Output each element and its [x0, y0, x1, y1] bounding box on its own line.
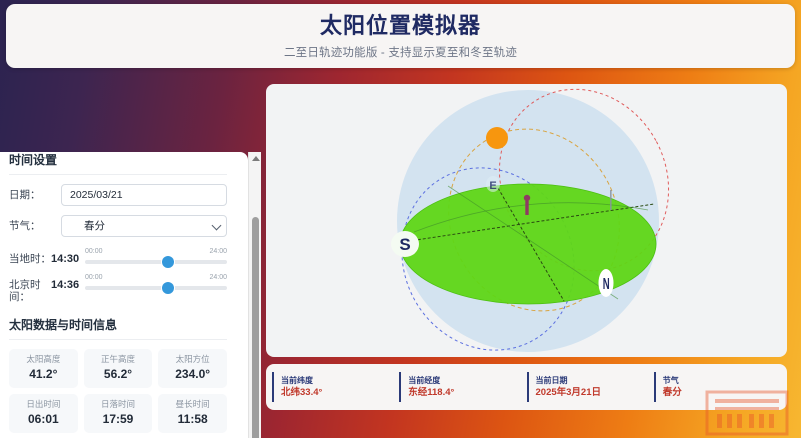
date-row: 日期： 2025/03/21: [9, 184, 227, 206]
data-cell-value: 06:01: [11, 411, 76, 427]
info-card-label: 当前纬度: [281, 375, 399, 386]
time-settings-heading: 时间设置: [9, 152, 227, 175]
control-sidebar: 时间设置 日期： 2025/03/21 节气： 春分 当地时： 14:30 00…: [0, 76, 261, 438]
sun-data-heading: 太阳数据与时间信息: [9, 311, 227, 340]
data-cell-label: 太阳高度: [11, 354, 76, 365]
data-cell-value: 17:59: [86, 411, 151, 427]
compass-south-label: S: [399, 235, 410, 254]
local-time-label: 当地时：: [9, 246, 51, 265]
data-cell-label: 日出时间: [11, 399, 76, 410]
info-card-label: 当前经度: [408, 375, 526, 386]
compass-marker-east: E: [486, 176, 500, 192]
data-cell: 昼长时间 11:58: [158, 394, 227, 433]
data-cell: 日落时间 17:59: [84, 394, 153, 433]
info-card-date: 当前日期 2025年3月21日: [527, 372, 654, 402]
data-cell-label: 太阳方位: [160, 354, 225, 365]
date-input[interactable]: 2025/03/21: [61, 184, 227, 206]
solar-term-row: 节气： 春分: [9, 215, 227, 237]
celestial-sphere-scene[interactable]: S E N: [266, 84, 787, 357]
solar-term-select[interactable]: 春分: [61, 215, 227, 237]
data-cell: 太阳方位 234.0°: [158, 349, 227, 388]
local-time-row: 当地时： 14:30 00:00 24:00: [9, 246, 227, 265]
data-cell-label: 昼长时间: [160, 399, 225, 410]
compass-east-label: E: [489, 180, 496, 192]
data-cell-label: 日落时间: [86, 399, 151, 410]
sun-marker: [486, 127, 508, 149]
info-card-latitude: 当前纬度 北纬33.4°: [272, 372, 399, 402]
scrollbar-thumb[interactable]: [252, 217, 259, 438]
page-title: 太阳位置模拟器: [320, 12, 481, 40]
beijing-time-max-tick: 24:00: [209, 273, 227, 282]
beijing-time-label: 北京时间：: [9, 272, 51, 303]
info-card-value: 2025年3月21日: [536, 386, 654, 399]
local-time-min-tick: 00:00: [85, 247, 103, 256]
info-card-longitude: 当前经度 东经118.4°: [399, 372, 526, 402]
info-card-value: 春分: [663, 386, 781, 399]
data-cell: 日出时间 06:01: [9, 394, 78, 433]
page-subtitle: 二至日轨迹功能版 - 支持显示夏至和冬至轨迹: [284, 44, 517, 60]
beijing-time-slider[interactable]: 00:00 24:00: [85, 272, 227, 290]
compass-marker-south: S: [391, 231, 419, 257]
local-time-track[interactable]: [85, 260, 227, 264]
data-cell-value: 11:58: [160, 411, 225, 427]
sidebar-scrollbar[interactable]: [248, 152, 261, 438]
beijing-time-thumb[interactable]: [162, 282, 174, 294]
local-time-max-tick: 24:00: [209, 247, 227, 256]
beijing-time-value: 14:36: [51, 272, 85, 291]
local-time-value: 14:30: [51, 246, 85, 265]
status-info-bar: 当前纬度 北纬33.4° 当前经度 东经118.4° 当前日期 2025年3月2…: [266, 364, 787, 410]
beijing-time-track[interactable]: [85, 286, 227, 290]
info-card-solar-term: 节气 春分: [654, 372, 781, 402]
solar-term-label: 节气：: [9, 220, 61, 233]
compass-marker-north: N: [599, 269, 614, 297]
sun-data-grid: 太阳高度 41.2° 正午高度 56.2° 太阳方位 234.0° 日出时间 0…: [9, 349, 227, 433]
date-label: 日期：: [9, 189, 61, 202]
beijing-time-min-tick: 00:00: [85, 273, 103, 282]
compass-north-label: N: [603, 274, 610, 292]
info-card-label: 节气: [663, 375, 781, 386]
data-cell-value: 56.2°: [86, 366, 151, 382]
sun-position-3d-viewport[interactable]: S E N: [266, 84, 787, 357]
local-time-thumb[interactable]: [162, 256, 174, 268]
page-header: 太阳位置模拟器 二至日轨迹功能版 - 支持显示夏至和冬至轨迹: [6, 4, 795, 68]
data-cell: 正午高度 56.2°: [84, 349, 153, 388]
solar-term-value: 春分: [61, 215, 227, 237]
info-card-label: 当前日期: [536, 375, 654, 386]
info-card-value: 东经118.4°: [408, 386, 526, 399]
beijing-time-row: 北京时间： 14:36 00:00 24:00: [9, 272, 227, 303]
data-cell-value: 234.0°: [160, 366, 225, 382]
info-card-value: 北纬33.4°: [281, 386, 399, 399]
data-cell: 太阳高度 41.2°: [9, 349, 78, 388]
data-cell-label: 正午高度: [86, 354, 151, 365]
zenith-pole: [610, 190, 612, 210]
sidebar-scroll-area: 时间设置 日期： 2025/03/21 节气： 春分 当地时： 14:30 00…: [0, 152, 248, 438]
scroll-up-arrow-icon[interactable]: [252, 156, 260, 161]
data-cell-value: 41.2°: [11, 366, 76, 382]
local-time-slider[interactable]: 00:00 24:00: [85, 246, 227, 264]
